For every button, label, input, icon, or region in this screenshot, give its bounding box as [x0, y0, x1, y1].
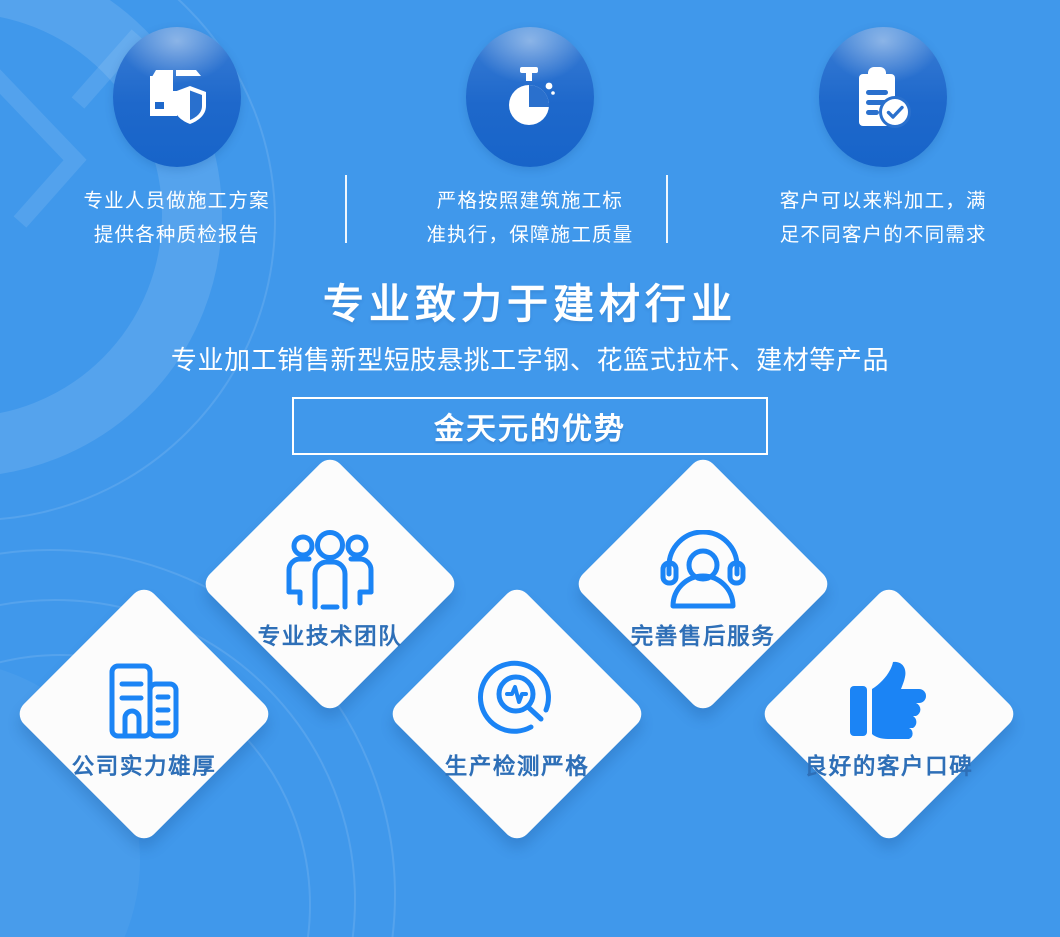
advantage-label: 完善售后服务: [631, 619, 776, 651]
stopwatch-icon: [503, 66, 557, 128]
advantage-label: 生产检测严格: [445, 749, 590, 781]
feature-item-2: 客户可以来料加工，满 足不同客户的不同需求: [707, 0, 1060, 260]
feature-divider-1: [345, 175, 347, 243]
feature-item-0: 专业人员做施工方案 提供各种质检报告: [0, 0, 353, 260]
advantage-card-4[interactable]: 良好的客户口碑: [759, 584, 1019, 844]
feature-text-2: 客户可以来料加工，满 足不同客户的不同需求: [780, 184, 987, 252]
page-subtitle: 专业加工销售新型短肢悬挑工字钢、花篮式拉杆、建材等产品: [0, 343, 1060, 377]
feature-orb-1: [466, 27, 594, 167]
feature-line1: 严格按照建筑施工标: [426, 184, 633, 218]
magnifier-pulse-icon: [476, 648, 558, 740]
feature-line1: 专业人员做施工方案: [83, 184, 269, 218]
feature-row: 专业人员做施工方案 提供各种质检报告: [0, 0, 1060, 260]
feature-line2: 足不同客户的不同需求: [780, 218, 987, 252]
thumbs-up-icon: [848, 648, 930, 740]
advantage-card-0[interactable]: 公司实力雄厚: [14, 584, 274, 844]
feature-line2: 准执行，保障施工质量: [426, 218, 633, 252]
feature-text-0: 专业人员做施工方案 提供各种质检报告: [83, 184, 269, 252]
headset-support-icon: [659, 518, 747, 610]
advantage-title: 金天元的优势: [434, 404, 626, 448]
feature-orb-2: [819, 27, 947, 167]
advantage-card-1[interactable]: 专业技术团队: [200, 454, 460, 714]
advantage-label: 公司实力雄厚: [72, 749, 217, 781]
feature-line2: 提供各种质检报告: [83, 218, 269, 252]
headline-block: 专业致力于建材行业 专业加工销售新型短肢悬挑工字钢、花篮式拉杆、建材等产品 金天…: [0, 278, 1060, 455]
advantage-title-box: 金天元的优势: [292, 397, 768, 455]
feature-divider-2: [666, 175, 668, 243]
advantage-card-3[interactable]: 完善售后服务: [573, 454, 833, 714]
page-title: 专业致力于建材行业: [0, 278, 1060, 330]
feature-orb-0: [113, 27, 241, 167]
advantage-label: 良好的客户口碑: [805, 749, 974, 781]
advantage-card-2[interactable]: 生产检测严格: [387, 584, 647, 844]
feature-item-1: 严格按照建筑施工标 准执行，保障施工质量: [353, 0, 706, 260]
feature-text-1: 严格按照建筑施工标 准执行，保障施工质量: [426, 184, 633, 252]
feature-line1: 客户可以来料加工，满: [780, 184, 987, 218]
team-people-icon: [285, 518, 375, 610]
advantage-label: 专业技术团队: [258, 619, 403, 651]
clipboard-check-icon: [855, 66, 911, 128]
box-shield-icon: [146, 68, 208, 126]
building-icon: [101, 648, 187, 740]
